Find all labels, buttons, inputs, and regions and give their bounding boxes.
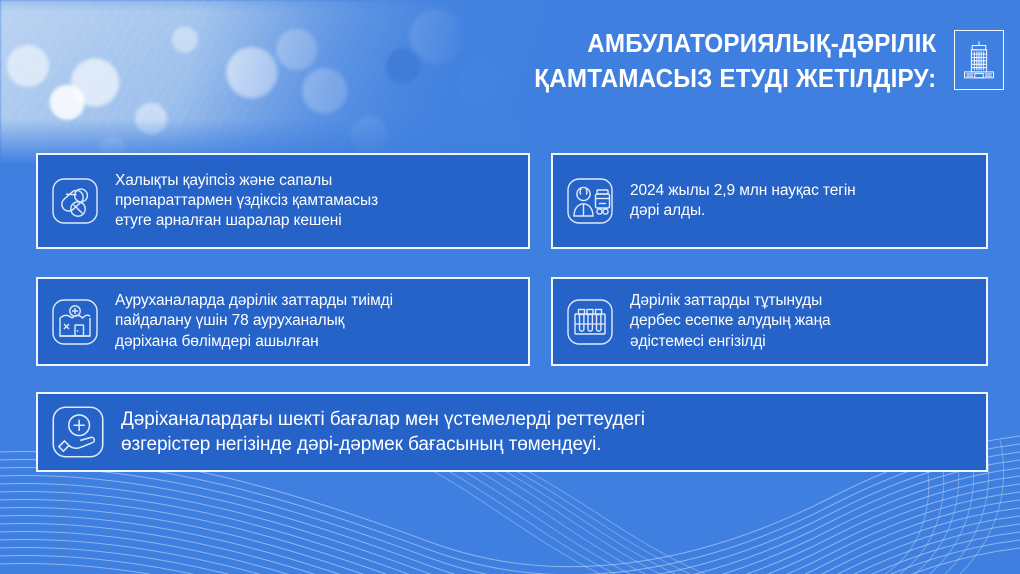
emblem-glyph [962,39,996,81]
info-card-text: Дәрілік заттарды тұтынуды дербес есепке … [630,291,831,351]
photo-vertical-fade [0,0,560,165]
test-tube-rack-icon [566,298,614,346]
info-card-hospital-pharmacy-departments: Ауруханаларда дәрілік заттарды тиімді па… [36,277,530,366]
pills-capsules-photo [0,0,560,165]
patient-medicine-bottle-icon [566,177,614,225]
government-building-icon [954,30,1004,90]
info-card-medicine-supply-measures: Халықты қауіпсіз және сапалы препараттар… [36,153,530,249]
info-card-free-medicine-patients: 2024 жылы 2,9 млн науқас тегін дәрі алды… [551,153,988,249]
info-card-text: Дәріханалардағы шекті бағалар мен үстеме… [121,407,645,458]
info-card-text: 2024 жылы 2,9 млн науқас тегін дәрі алды… [630,181,856,221]
hand-holding-medical-cross-icon [51,405,105,459]
slide-header: АМБУЛАТОРИЯЛЫҚ-ДӘРІЛІК ҚАМТАМАСЫЗ ЕТУДІ … [504,26,1004,95]
info-card-consumption-accounting-method: Дәрілік заттарды тұтынуды дербес есепке … [551,277,988,366]
page-title: АМБУЛАТОРИЯЛЫҚ-ДӘРІЛІК ҚАМТАМАСЫЗ ЕТУДІ … [534,26,936,95]
info-card-price-reduction: Дәріханалардағы шекті бағалар мен үстеме… [36,392,988,472]
info-card-text: Ауруханаларда дәрілік заттарды тиімді па… [115,291,393,351]
slide-canvas: АМБУЛАТОРИЯЛЫҚ-ДӘРІЛІК ҚАМТАМАСЫЗ ЕТУДІ … [0,0,1020,574]
capsule-pills-icon [51,177,99,225]
pharmacy-storefront-icon [51,298,99,346]
info-card-text: Халықты қауіпсіз және сапалы препараттар… [115,171,378,231]
